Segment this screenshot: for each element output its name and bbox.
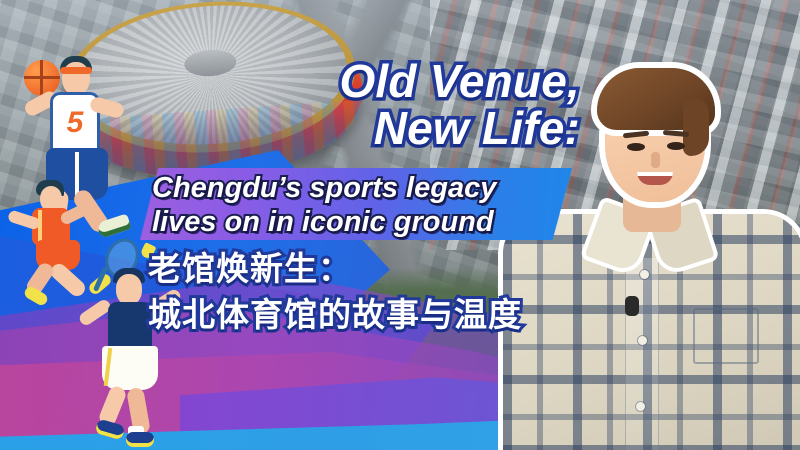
badminton-player-right-shoe — [126, 432, 154, 447]
host-shirt-button — [640, 270, 649, 279]
host-nose — [651, 152, 660, 168]
host-hair-side — [683, 98, 709, 156]
runner-right-arm — [59, 202, 91, 226]
chinese-headline-line-2: 城北体育馆的故事与温度 — [148, 292, 548, 338]
host-eye-left — [627, 143, 645, 151]
subtitle-line-2: lives on in iconic ground — [152, 206, 562, 240]
host-shirt-placket — [625, 258, 659, 450]
lapel-microphone-icon — [625, 296, 639, 316]
host-shirt-button — [636, 402, 645, 411]
badminton-player-head — [116, 274, 142, 305]
basketball-player-headband — [60, 67, 92, 74]
host-shirt-button — [638, 336, 647, 345]
host-shirt-pocket — [693, 308, 759, 364]
chinese-headline-line-1: 老馆焕新生： — [148, 246, 548, 292]
badminton-player-skirt — [102, 346, 158, 390]
chinese-headline: 老馆焕新生： 城北体育馆的故事与温度 — [148, 246, 548, 337]
subtitle-banner-text: Chengdu’s sports legacy lives on in icon… — [152, 172, 562, 240]
headline-line-2: New Life: — [150, 105, 580, 152]
subtitle-line-1: Chengdu’s sports legacy — [152, 172, 562, 206]
basketball-icon — [24, 60, 60, 96]
host-eye-right — [667, 142, 685, 150]
video-thumbnail: Old Venue, New Life: Chengdu’s sports le… — [0, 0, 800, 450]
badminton-racket-handle — [93, 266, 108, 292]
headline-line-1: Old Venue, — [150, 58, 580, 105]
badminton-player-top — [108, 302, 152, 350]
headline-title: Old Venue, New Life: — [150, 58, 580, 152]
